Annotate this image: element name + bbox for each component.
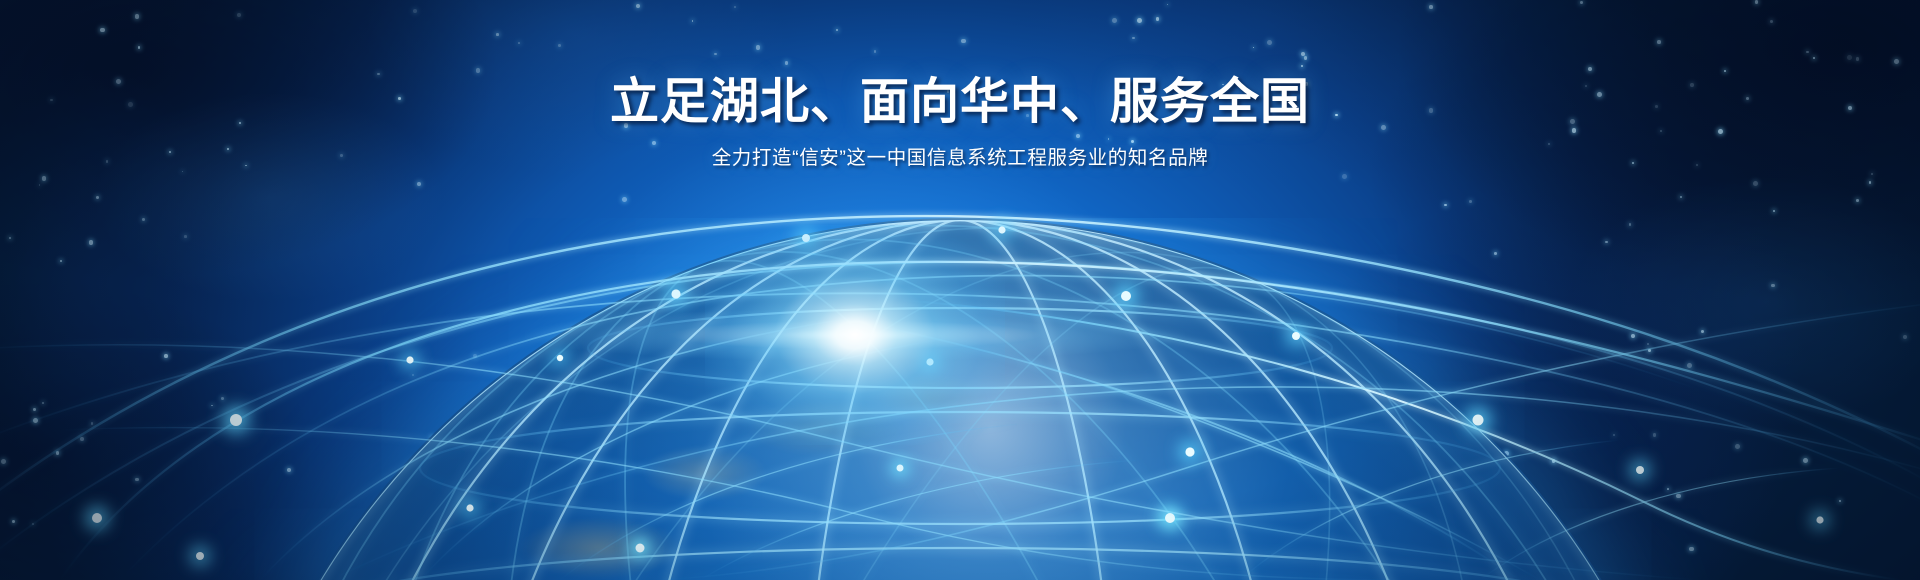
hero-banner: 立足湖北、面向华中、服务全国 全力打造“信安”这一中国信息系统工程服务业的知名品… (0, 0, 1920, 580)
banner-copy: 立足湖北、面向华中、服务全国 全力打造“信安”这一中国信息系统工程服务业的知名品… (0, 76, 1920, 172)
flare-core (705, 225, 1005, 445)
banner-headline: 立足湖北、面向华中、服务全国 (0, 76, 1920, 129)
banner-subline: 全力打造“信安”这一中国信息系统工程服务业的知名品牌 (0, 145, 1920, 172)
